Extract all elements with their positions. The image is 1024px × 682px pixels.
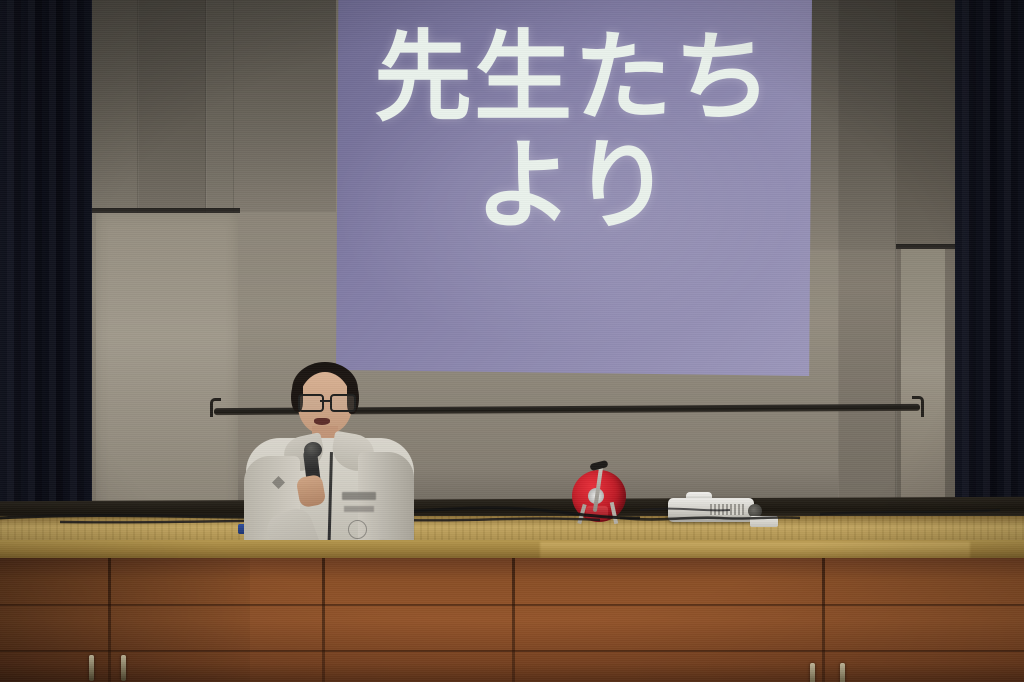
cabinet-door-handle-2[interactable]: [121, 655, 126, 681]
projection-line-2: より: [336, 136, 812, 238]
curtain-sheen-left: [0, 0, 92, 540]
wall-seam-left: [90, 208, 240, 213]
glasses-lens-left: [298, 394, 324, 412]
curtain-sheen-right: [955, 0, 1024, 540]
photo-scene: 先生たち より: [0, 0, 1024, 682]
wall-shadow-left: [90, 0, 336, 212]
glasses-bridge: [320, 400, 330, 402]
speaker-hand-left: [296, 474, 327, 508]
wall-seam-right: [896, 244, 958, 249]
floor-cables: [0, 460, 1024, 550]
screen-hook-right: [912, 396, 924, 417]
projection-text-block: 先生たち より: [336, 28, 812, 238]
glasses-lens-right: [330, 394, 356, 412]
projection-line-1: 先生たち: [336, 28, 812, 130]
stage-apron-wear: [540, 542, 970, 559]
stage-curtain-right: [955, 0, 1024, 540]
jacket-chest-text: [344, 506, 374, 512]
speaker-mouth: [314, 418, 330, 425]
stage-front-divider-3: [512, 558, 515, 682]
cabinet-door-handle-4[interactable]: [840, 663, 845, 682]
stage-front-divider-1: [108, 558, 111, 682]
cabinet-door-handle-1[interactable]: [89, 655, 94, 681]
cabinet-door-handle-3[interactable]: [810, 663, 815, 682]
jacket-chest-logo: [342, 492, 376, 500]
jacket-emblem: [348, 520, 367, 539]
stage-front-divider-2: [322, 558, 325, 682]
projection-screen: 先生たち より: [336, 0, 812, 376]
stage-front-divider-4: [822, 558, 825, 682]
speaker-glasses: [298, 394, 354, 409]
wall-shadow-right: [806, 0, 958, 250]
screen-hook-left: [210, 398, 221, 417]
stage-curtain-left: [0, 0, 92, 540]
